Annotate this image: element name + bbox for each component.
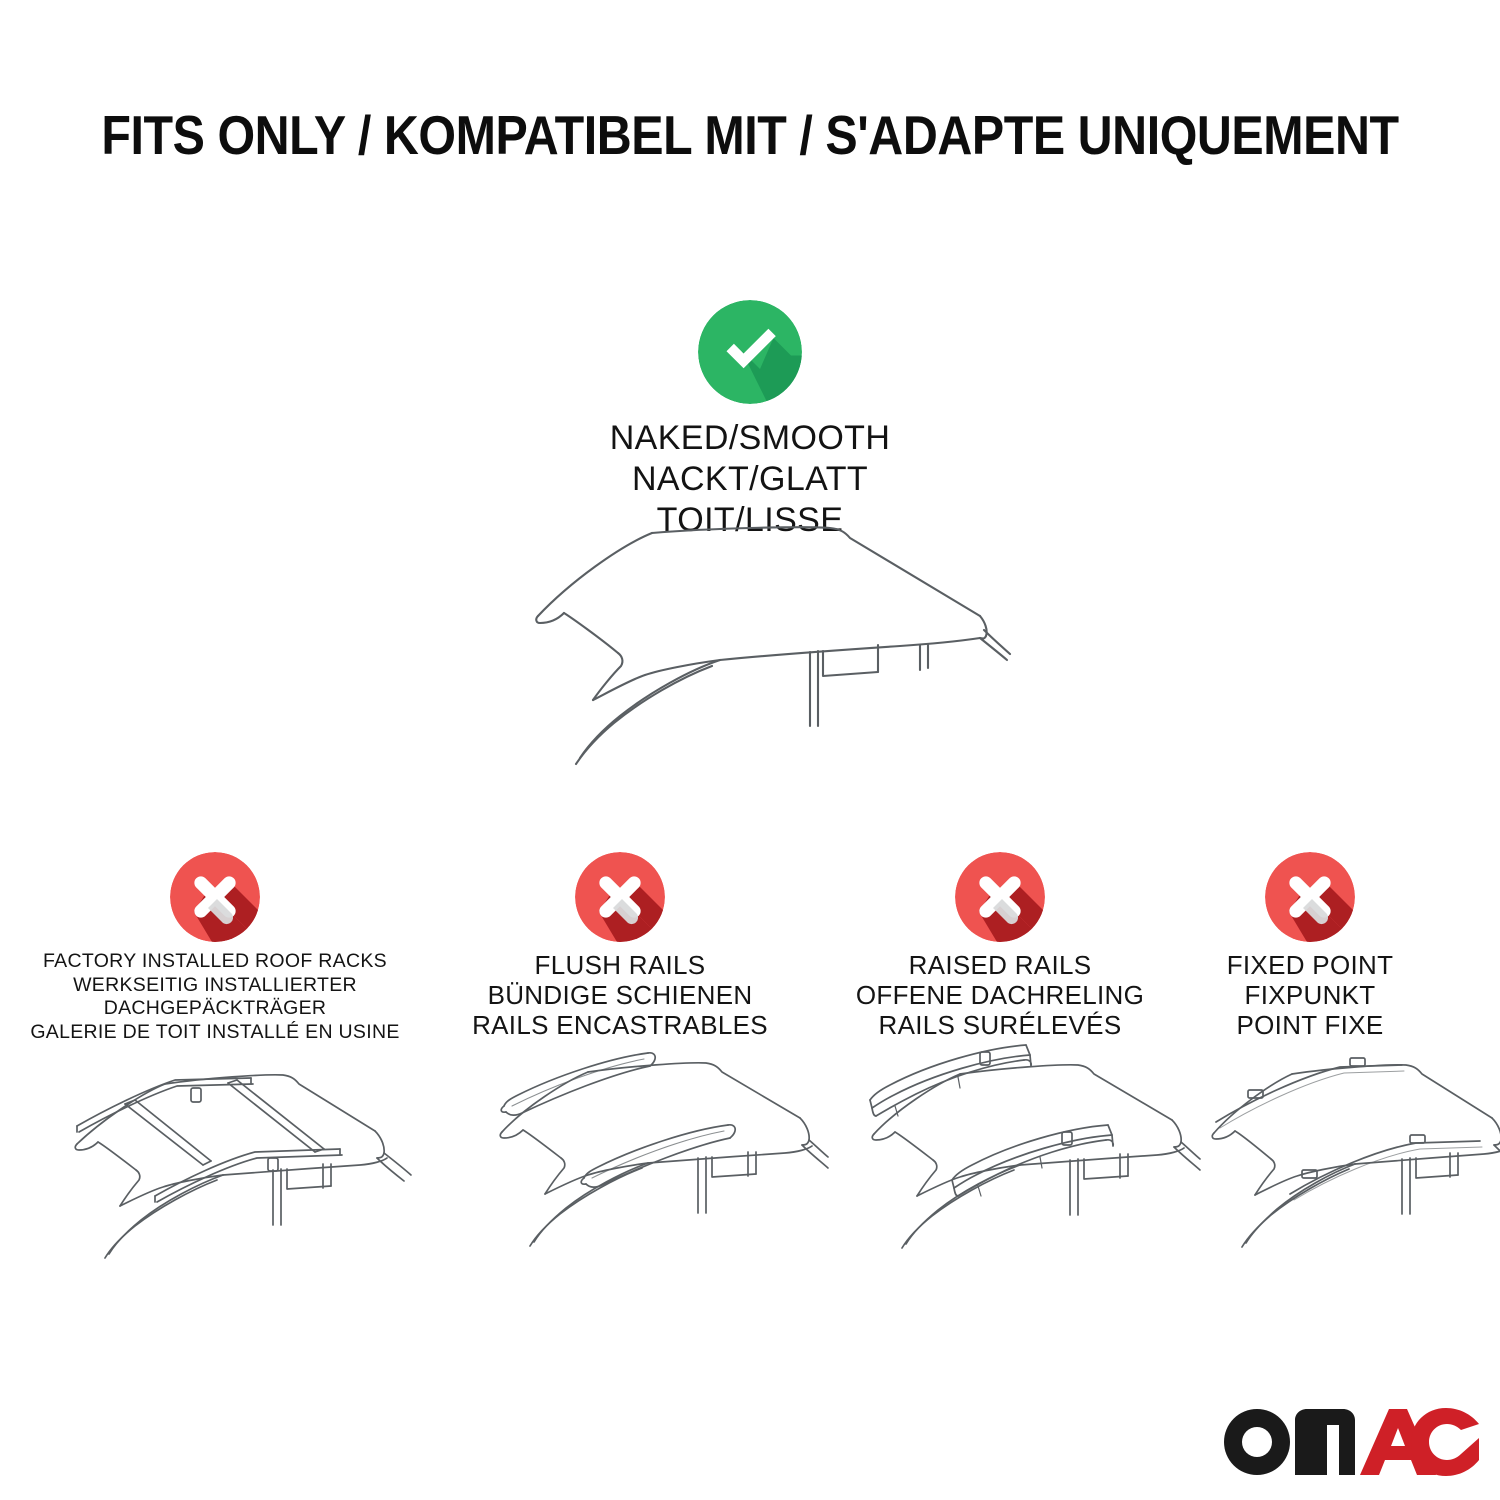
raised-rails-illustration <box>820 1044 1220 1254</box>
factory-roof-rack-illustration <box>15 1048 415 1258</box>
page-title: FITS ONLY / KOMPATIBEL MIT / S'ADAPTE UN… <box>90 103 1410 167</box>
smooth-roof-illustration <box>480 520 1040 810</box>
incompatible-label-de: FIXPUNKT <box>1180 980 1440 1010</box>
brand-logo-omac <box>1221 1402 1479 1480</box>
compatible-section: NAKED/SMOOTH NACKT/GLATT TOIT/LISSE <box>0 300 1500 541</box>
x-circle-icon <box>1265 852 1355 942</box>
fitment-infographic: FITS ONLY / KOMPATIBEL MIT / S'ADAPTE UN… <box>0 0 1500 1500</box>
check-circle-icon <box>698 300 802 404</box>
incompatible-label-en: FACTORY INSTALLED ROOF RACKS <box>10 950 420 974</box>
x-circle-icon <box>575 852 665 942</box>
flush-rails-illustration <box>440 1044 840 1254</box>
x-circle-icon <box>170 852 260 942</box>
incompatible-label-fr: POINT FIXE <box>1180 1010 1440 1040</box>
incompatible-item-raised-rails: RAISED RAILS OFFENE DACHRELING RAILS SUR… <box>820 852 1180 1254</box>
incompatible-item-fixed-point: FIXED POINT FIXPUNKT POINT FIXE <box>1180 852 1440 1254</box>
incompatible-item-flush-rails: FLUSH RAILS BÜNDIGE SCHIENEN RAILS ENCAS… <box>440 852 800 1254</box>
incompatible-labels: FIXED POINT FIXPUNKT POINT FIXE <box>1180 950 1440 1040</box>
compatible-label-de: NACKT/GLATT <box>0 459 1500 500</box>
incompatible-item-factory-roof-racks: FACTORY INSTALLED ROOF RACKS WERKSEITIG … <box>10 852 420 1258</box>
incompatible-label-de: OFFENE DACHRELING <box>820 980 1180 1010</box>
incompatible-label-en: FIXED POINT <box>1180 950 1440 980</box>
compatible-label-en: NAKED/SMOOTH <box>0 418 1500 459</box>
incompatible-label-fr: GALERIE DE TOIT INSTALLÉ EN USINE <box>10 1021 420 1045</box>
incompatible-section: FACTORY INSTALLED ROOF RACKS WERKSEITIG … <box>0 852 1500 1292</box>
fixed-point-illustration <box>1180 1044 1500 1254</box>
header: FITS ONLY / KOMPATIBEL MIT / S'ADAPTE UN… <box>0 103 1500 167</box>
incompatible-labels: FACTORY INSTALLED ROOF RACKS WERKSEITIG … <box>10 950 420 1044</box>
x-circle-icon <box>955 852 1045 942</box>
incompatible-labels: FLUSH RAILS BÜNDIGE SCHIENEN RAILS ENCAS… <box>440 950 800 1040</box>
incompatible-label-fr: RAILS SURÉLEVÉS <box>820 1010 1180 1040</box>
incompatible-label-en: FLUSH RAILS <box>440 950 800 980</box>
incompatible-label-en: RAISED RAILS <box>820 950 1180 980</box>
incompatible-label-de: BÜNDIGE SCHIENEN <box>440 980 800 1010</box>
incompatible-label-de: WERKSEITIG INSTALLIERTER DACHGEPÄCKTRÄGE… <box>10 974 420 1021</box>
incompatible-label-fr: RAILS ENCASTRABLES <box>440 1010 800 1040</box>
incompatible-labels: RAISED RAILS OFFENE DACHRELING RAILS SUR… <box>820 950 1180 1040</box>
